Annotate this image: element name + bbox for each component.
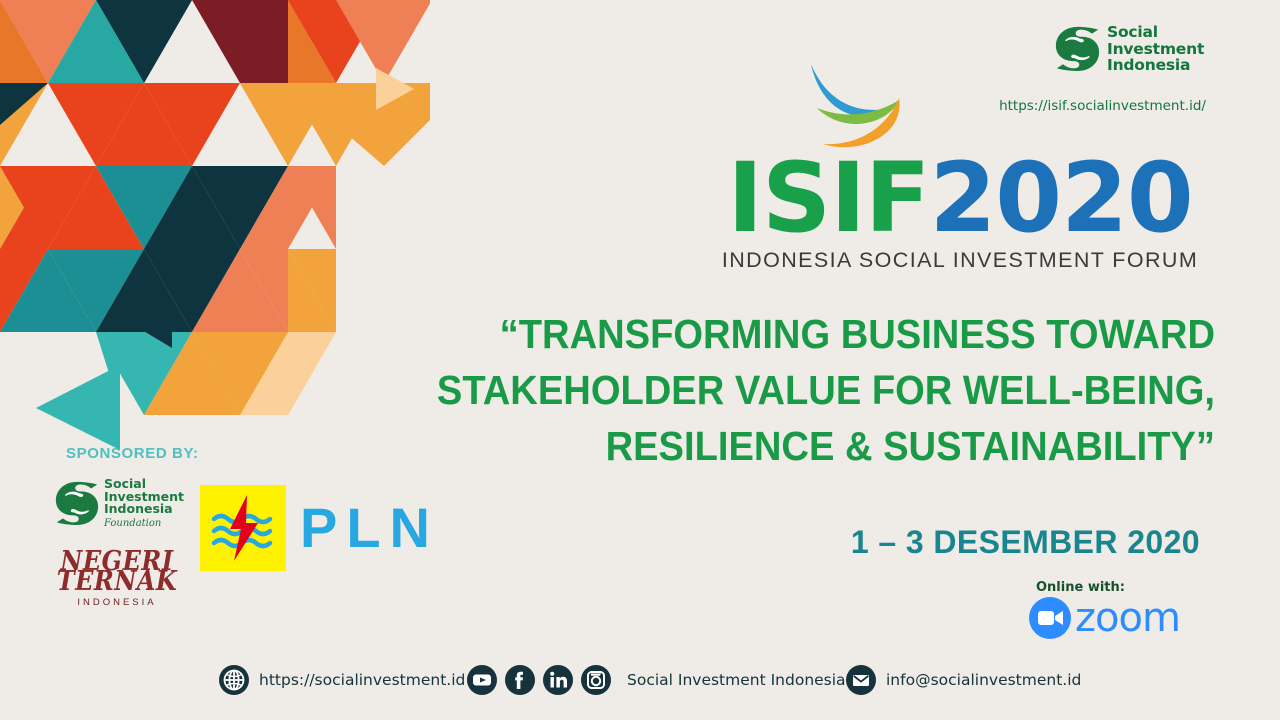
negeri-line-2: TERNAK: [52, 570, 182, 592]
footer-email-text: info@socialinvestment.id: [886, 671, 1081, 689]
footer-social: Social Investment Indonesia: [466, 664, 846, 696]
pln-lightning-waves-icon: [200, 485, 286, 571]
envelope-icon: [845, 664, 877, 696]
pln-badge: [200, 485, 286, 571]
organizer-logo: Social Investment Indonesia: [1055, 24, 1204, 74]
sponsor-logo-sif-foundation: Social Investment Indonesia Foundation: [55, 478, 184, 529]
online-platform-block: Online with: zoom: [1028, 580, 1208, 640]
event-url[interactable]: https://isif.socialinvestment.id/: [995, 98, 1210, 114]
zoom-camera-icon: [1028, 596, 1072, 640]
footer-website[interactable]: https://socialinvestment.id: [218, 664, 465, 696]
footer-social-handle: Social Investment Indonesia: [627, 671, 846, 689]
footer-email[interactable]: info@socialinvestment.id: [845, 664, 1081, 696]
sponsor-logo-pln: PLN: [200, 485, 439, 571]
theme-line-2: STAKEHOLDER VALUE FOR WELL-BEING,: [364, 362, 1215, 418]
zoom-logo: zoom: [1028, 596, 1208, 640]
social-investment-hands-icon: [1055, 26, 1100, 71]
event-banner: Social Investment Indonesia https://isif…: [0, 0, 1280, 720]
instagram-icon[interactable]: [580, 664, 612, 696]
footer-website-text: https://socialinvestment.id: [259, 671, 465, 689]
sponsor-name-suffix: Foundation: [104, 518, 184, 529]
online-with-label: Online with:: [1036, 580, 1208, 595]
linkedin-icon[interactable]: [542, 664, 574, 696]
footer-contact-bar: https://socialinvestment.id: [0, 655, 1280, 705]
social-investment-hands-icon: [55, 481, 99, 525]
event-logo-lockup: ISIF2020 INDONESIA SOCIAL INVESTMENT FOR…: [700, 150, 1220, 273]
sponsored-by-label: SPONSORED BY:: [66, 445, 199, 462]
theme-line-1: “TRANSFORMING BUSINESS TOWARD: [364, 306, 1215, 362]
isif-acronym: ISIF: [727, 142, 929, 254]
sponsor-logo-negeri-ternak: NEGERI TERNAK INDONESIA: [52, 550, 182, 608]
event-date: 1 – 3 DESEMBER 2020: [700, 524, 1200, 561]
facebook-icon[interactable]: [504, 664, 536, 696]
youtube-icon[interactable]: [466, 664, 498, 696]
isif-year: 2020: [929, 142, 1192, 254]
isif-wordmark: ISIF2020: [700, 150, 1220, 246]
organizer-name: Social Investment Indonesia: [1107, 24, 1204, 74]
globe-icon: [218, 664, 250, 696]
event-theme: “TRANSFORMING BUSINESS TOWARD STAKEHOLDE…: [364, 306, 1215, 474]
tri-color-swoosh-icon: [795, 58, 925, 148]
pln-wordmark: PLN: [300, 500, 439, 556]
event-subtitle: INDONESIA SOCIAL INVESTMENT FORUM: [700, 248, 1220, 273]
theme-line-3: RESILIENCE & SUSTAINABILITY”: [364, 418, 1215, 474]
sponsor-name-sif: Social Investment Indonesia: [104, 478, 184, 516]
zoom-wordmark: zoom: [1075, 598, 1180, 638]
negeri-line-3: INDONESIA: [52, 597, 182, 608]
